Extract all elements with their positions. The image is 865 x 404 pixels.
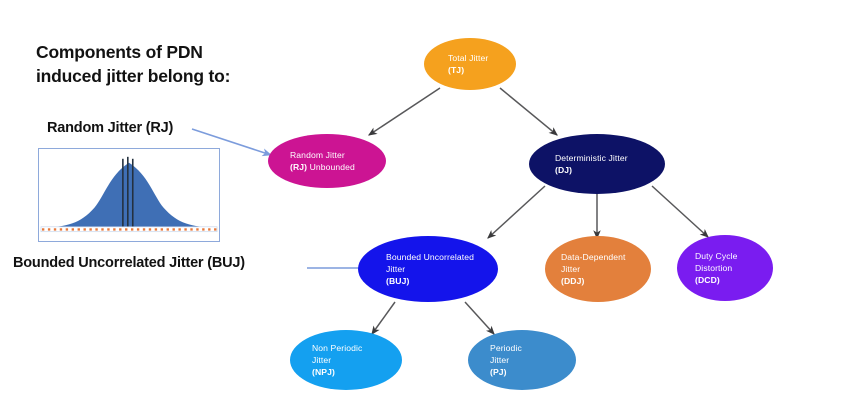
edge-dj-to-buj <box>488 186 545 238</box>
node-non-periodic-jitter[interactable]: Non Periodic Jitter (NPJ) <box>290 330 402 390</box>
edge-tj-to-rj <box>369 88 440 135</box>
node-buj-line-2: Jitter <box>386 263 498 275</box>
node-dcd-line-1: Duty Cycle <box>695 250 773 262</box>
annotation-bounded-uncorrelated-jitter: Bounded Uncorrelated Jitter (BUJ) <box>13 255 245 271</box>
annotation-random-jitter: Random Jitter (RJ) <box>47 120 173 136</box>
node-pj-line-2: Jitter <box>490 354 576 366</box>
node-npj-line-1: Non Periodic <box>312 342 402 354</box>
node-buj-abbr: (BUJ) <box>386 275 498 287</box>
page-title-line-1: Components of PDN <box>36 40 336 64</box>
node-random-jitter-abbr: (RJ) <box>290 162 307 172</box>
edge-buj-to-pj <box>465 302 494 334</box>
node-ddj-line-1: Data-Dependent <box>561 251 651 263</box>
node-npj-abbr: (NPJ) <box>312 366 402 378</box>
node-duty-cycle-distortion[interactable]: Duty Cycle Distortion (DCD) <box>677 235 773 301</box>
node-pj-line-1: Periodic <box>490 342 576 354</box>
node-dcd-line-2: Distortion <box>695 262 773 274</box>
node-deterministic-jitter[interactable]: Deterministic Jitter (DJ) <box>529 134 665 194</box>
edge-tj-to-dj <box>500 88 557 135</box>
node-random-jitter[interactable]: Random Jitter (RJ) Unbounded <box>268 134 386 188</box>
edge-buj-to-npj <box>372 302 395 334</box>
gaussian-histogram-thumbnail <box>38 148 220 242</box>
node-bounded-uncorrelated-jitter[interactable]: Bounded Uncorrelated Jitter (BUJ) <box>358 236 498 302</box>
node-random-jitter-suffix: Unbounded <box>307 162 355 172</box>
page-title: Components of PDN induced jitter belong … <box>36 40 336 88</box>
node-total-jitter-abbr: (TJ) <box>448 64 516 76</box>
node-deterministic-jitter-line-1: Deterministic Jitter <box>555 152 665 164</box>
node-periodic-jitter[interactable]: Periodic Jitter (PJ) <box>468 330 576 390</box>
page-title-line-2: induced jitter belong to: <box>36 64 336 88</box>
node-random-jitter-line-1: Random Jitter <box>290 149 386 161</box>
node-ddj-line-2: Jitter <box>561 263 651 275</box>
node-pj-abbr: (PJ) <box>490 366 576 378</box>
gaussian-histogram-icon <box>39 149 219 241</box>
node-dcd-abbr: (DCD) <box>695 274 773 286</box>
diagram-canvas: Components of PDN induced jitter belong … <box>0 0 865 404</box>
node-deterministic-jitter-abbr: (DJ) <box>555 164 665 176</box>
node-npj-line-2: Jitter <box>312 354 402 366</box>
node-total-jitter-line-1: Total Jitter <box>448 52 516 64</box>
node-data-dependent-jitter[interactable]: Data-Dependent Jitter (DDJ) <box>545 236 651 302</box>
node-buj-line-1: Bounded Uncorrelated <box>386 251 498 263</box>
edge-dj-to-dcd <box>652 186 708 237</box>
node-total-jitter[interactable]: Total Jitter (TJ) <box>424 38 516 90</box>
node-ddj-abbr: (DDJ) <box>561 275 651 287</box>
node-random-jitter-line-2: (RJ) Unbounded <box>290 161 386 173</box>
